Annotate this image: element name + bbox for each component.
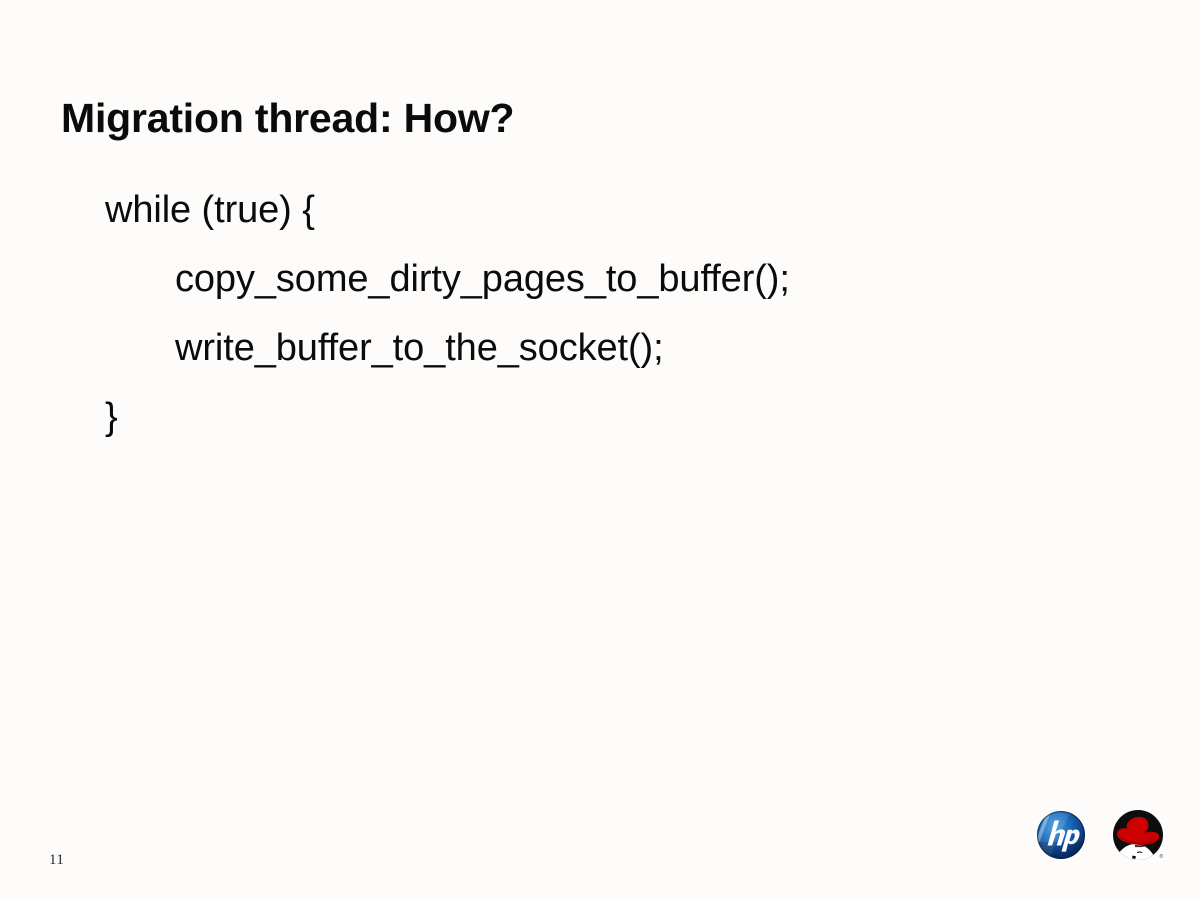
code-line: copy_some_dirty_pages_to_buffer(); bbox=[105, 245, 1105, 314]
slide: Migration thread: How? while (true) { co… bbox=[0, 0, 1200, 900]
page-number: 11 bbox=[49, 852, 64, 869]
code-line: write_buffer_to_the_socket(); bbox=[105, 314, 1105, 383]
code-line: } bbox=[105, 383, 1105, 452]
logo-bar: ® bbox=[1030, 808, 1180, 872]
code-line: while (true) { bbox=[105, 176, 1105, 245]
red-hat-logo: ® bbox=[1111, 808, 1167, 871]
hp-logo bbox=[1034, 808, 1088, 867]
page-title: Migration thread: How? bbox=[61, 96, 514, 142]
code-block: while (true) { copy_some_dirty_pages_to_… bbox=[105, 176, 1105, 452]
svg-text:®: ® bbox=[1160, 853, 1164, 860]
